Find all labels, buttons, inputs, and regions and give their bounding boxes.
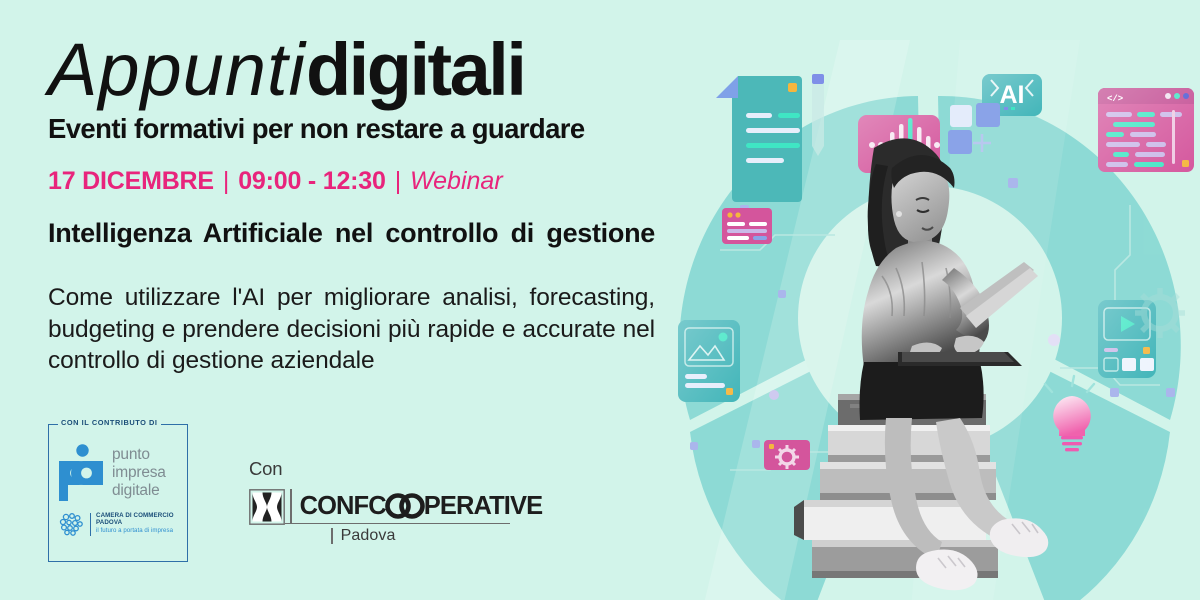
confcooperative-divider	[290, 489, 292, 523]
text-column: Appuntidigitali Eventi formativi per non…	[48, 34, 660, 376]
confcooperative-city-tick	[331, 528, 333, 544]
pid-footer: CAMERA DI COMMERCIO PADOVA il futuro a p…	[49, 504, 187, 536]
confcooperative-text-group: CONFC PERATIVE Padova	[285, 489, 542, 545]
hero-illustration: AI	[660, 0, 1200, 600]
event-meta-line: 17 DICEMBRE | 09:00 - 12:30 | Webinar	[48, 167, 660, 196]
confcooperative-city-row: Padova	[285, 527, 542, 545]
brand-tagline: Eventi formativi per non restare a guard…	[48, 113, 660, 145]
pid-contributo-label: CON IL CONTRIBUTO DI	[58, 418, 161, 427]
form-card	[722, 208, 772, 244]
event-date: 17 DICEMBRE	[48, 167, 214, 196]
wordmark-part-1: CONFC	[300, 492, 386, 521]
wordmark-part-2: PERATIVE	[424, 492, 542, 521]
confcooperative-rule	[285, 523, 510, 524]
pid-footer-divider	[90, 513, 91, 536]
pid-word-punto: punto	[112, 446, 166, 464]
linked-oo-icon	[385, 493, 425, 519]
confcooperative-name-row: CONFC PERATIVE	[285, 489, 542, 523]
pid-monogram-icon	[57, 442, 105, 504]
partner-logo-block: Con CONFC	[249, 424, 542, 545]
session-abstract: Come utilizzare l'AI per migliorare anal…	[48, 282, 655, 376]
video-player-card	[1098, 300, 1156, 378]
brand-title-bold: digitali	[306, 28, 524, 111]
ai-badge-text: AI	[1000, 81, 1025, 109]
partner-con-label: Con	[249, 458, 542, 480]
confcooperative-lockup: CONFC PERATIVE Padova	[249, 489, 542, 545]
meta-separator-2: |	[395, 167, 401, 196]
gear-card	[764, 440, 810, 470]
dot-accent-1	[769, 390, 779, 400]
cciaa-claim: il futuro a portata di impresa	[96, 528, 174, 535]
event-time: 09:00 - 12:30	[238, 167, 386, 196]
brand-title-light: Appunti	[48, 28, 306, 111]
pid-wordmark: punto impresa digitale	[112, 446, 166, 500]
confcooperative-city: Padova	[341, 527, 396, 545]
code-window-card: </>	[1098, 88, 1194, 172]
pid-logo: CON IL CONTRIBUTO DI punto impresa digit…	[48, 424, 188, 562]
logo-row: CON IL CONTRIBUTO DI punto impresa digit…	[48, 424, 542, 562]
pid-footer-text: CAMERA DI COMMERCIO PADOVA il futuro a p…	[96, 513, 174, 535]
pid-word-digitale: digitale	[112, 482, 166, 500]
image-gallery-card	[678, 320, 740, 402]
session-heading: Intelligenza Artificiale nel controllo d…	[48, 218, 655, 282]
camera-commercio-icon	[58, 512, 85, 536]
confcooperative-mark-icon	[249, 489, 285, 525]
event-mode: Webinar	[410, 167, 503, 196]
pid-main: punto impresa digitale	[49, 425, 187, 504]
brand-title: Appuntidigitali	[48, 34, 660, 107]
pid-word-impresa: impresa	[112, 464, 166, 482]
illustration-canvas: AI	[660, 0, 1200, 600]
cciaa-city: PADOVA	[96, 520, 174, 527]
confcooperative-wordmark: CONFC PERATIVE	[300, 492, 543, 521]
event-banner: Appuntidigitali Eventi formativi per non…	[0, 0, 1200, 600]
dot-accent-2	[1048, 334, 1060, 346]
meta-separator-1: |	[223, 167, 229, 196]
